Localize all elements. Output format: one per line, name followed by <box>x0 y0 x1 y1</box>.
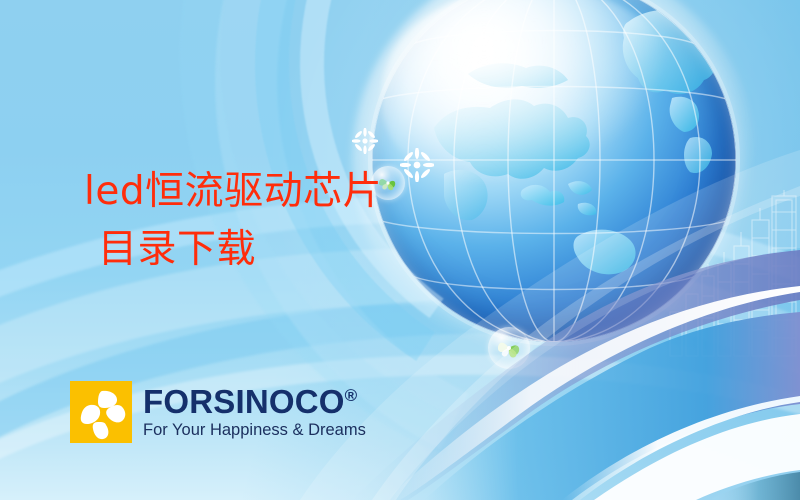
headline-line-1: led恒流驱动芯片 <box>84 169 382 214</box>
logo-text-block: FORSINOCO® For Your Happiness & Dreams <box>143 385 366 440</box>
registered-trademark-icon: ® <box>345 386 358 405</box>
company-logo: FORSINOCO® For Your Happiness & Dreams <box>70 381 366 443</box>
banner-canvas: led恒流驱动芯片 目录下载 FORSINOCO® For Your Happi… <box>0 0 800 500</box>
logo-company-name: FORSINOCO® <box>143 385 366 419</box>
bubble-pinwheel-icon <box>488 327 530 369</box>
four-petal-pinwheel-icon <box>70 381 132 443</box>
earth-globe-icon <box>372 0 736 342</box>
logo-tagline: For Your Happiness & Dreams <box>143 420 366 440</box>
page-title: led恒流驱动芯片 目录下载 <box>84 163 382 279</box>
headline-line-2: 目录下载 <box>84 221 382 279</box>
logo-name-text: FORSINOCO <box>143 383 345 420</box>
